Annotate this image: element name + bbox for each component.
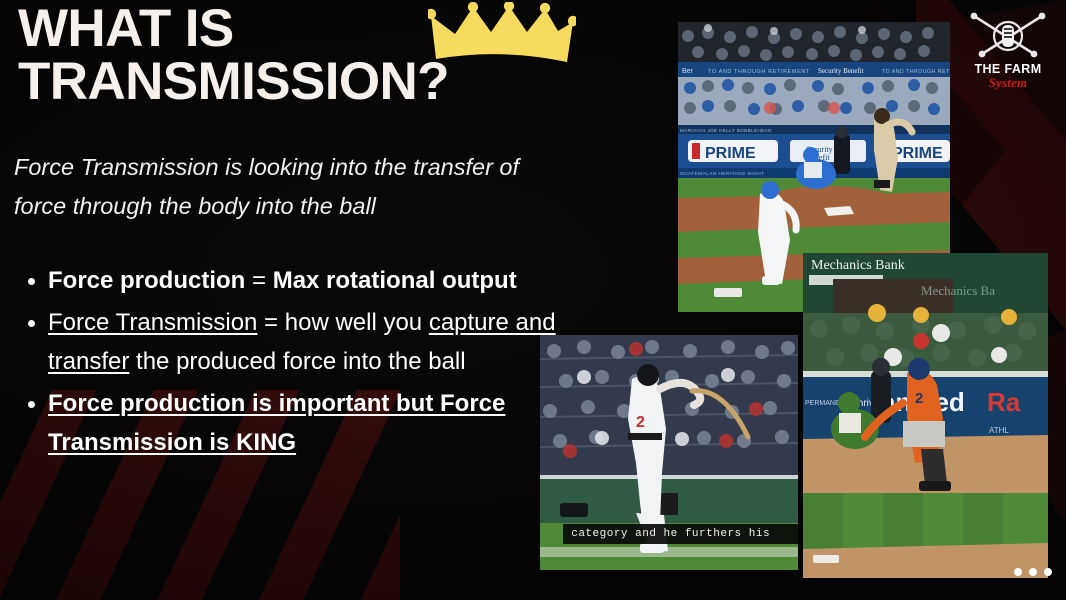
logo-subtitle: System [960,75,1056,91]
svg-text:PRIME: PRIME [892,145,943,162]
bullet-3-seg-1: Force production is important but Force … [48,390,505,456]
svg-text:GUATEMALAN HERITAGE NIGHT: GUATEMALAN HERITAGE NIGHT [680,171,764,177]
bullet-1-seg-3: Max rotational output [273,267,517,294]
brand-logo[interactable]: THE FARM System [960,8,1056,104]
bullet-force-production: Force production = Max rotational output [48,262,576,301]
bullet-1-seg-2: = [245,267,272,294]
pagination-dot-2[interactable] [1029,568,1037,576]
photo-caption: category and he furthers his [563,524,798,544]
bullet-transmission-is-king: Force production is important but Force … [48,385,576,463]
photo-nationals-batter: 2 category and he furthers his [540,335,798,570]
crown-icon [428,2,576,64]
pagination-dot-3[interactable] [1044,568,1052,576]
svg-text:Mechanics Ba: Mechanics Ba [921,283,995,298]
slide-root: WHAT IS TRANSMISSION? Force Transmission… [0,0,1066,600]
svg-text:Ra: Ra [987,387,1021,417]
svg-text:MARIACHI JOE KELLY BOBBLEHEAD: MARIACHI JOE KELLY BOBBLEHEAD [680,128,772,133]
bullet-1-seg-1: Force production [48,267,245,294]
bullet-list: Force production = Max rotational output… [14,262,576,465]
crossed-bats-icon [960,8,1056,66]
svg-text:PRIME: PRIME [705,145,756,162]
pagination-dots[interactable] [1014,568,1052,576]
photo-astros-athletics-image: Mechanics Bank Mechanics Ba [803,253,1048,578]
bullet-2-seg-2: = how well you [257,309,428,336]
svg-text:Security Benefit: Security Benefit [818,67,864,75]
svg-text:TO AND THROUGH RET: TO AND THROUGH RET [882,69,950,75]
bullet-2-seg-1: Force Transmission [48,309,257,336]
svg-text:Ber: Ber [682,68,694,75]
logo-name: THE FARM [960,62,1056,76]
svg-text:Mechanics Bank: Mechanics Bank [811,258,905,273]
photo-astros-athletics: Mechanics Bank Mechanics Ba [803,253,1048,578]
svg-text:ATHL: ATHL [989,426,1009,435]
bullet-2-seg-4: the produced force into the ball [129,348,465,375]
svg-text:TO AND THROUGH RETIREMENT: TO AND THROUGH RETIREMENT [708,69,810,75]
pagination-dot-1[interactable] [1014,568,1022,576]
svg-text:2: 2 [915,390,923,407]
svg-text:2: 2 [636,414,645,431]
intro-paragraph: Force Transmission is looking into the t… [14,148,534,226]
bullet-force-transmission: Force Transmission = how well you captur… [48,304,576,382]
